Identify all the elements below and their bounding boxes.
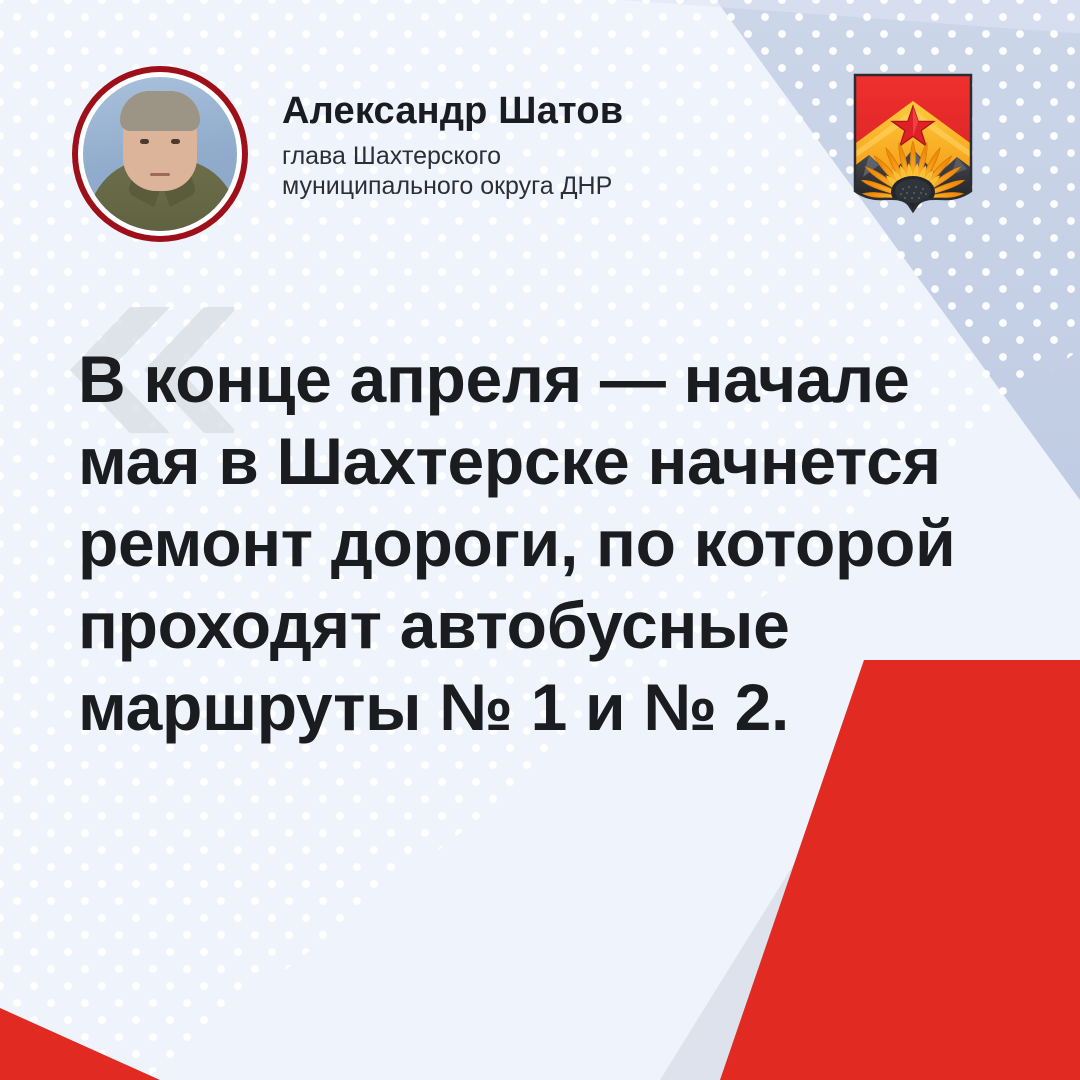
- avatar-ring-inner: [78, 72, 242, 236]
- avatar-ring: [72, 66, 248, 242]
- speaker-role: глава Шахтерского муниципального округа …: [282, 141, 623, 202]
- quote-card: Александр Шатов глава Шахтерского муници…: [0, 0, 1080, 1080]
- avatar: [83, 77, 237, 231]
- quote-text: В конце апреля — начале мая в Шахтерске …: [78, 338, 998, 748]
- portrait-eye-right: [171, 139, 180, 144]
- speaker-name: Александр Шатов: [282, 92, 623, 132]
- portrait-eye-left: [140, 139, 149, 144]
- portrait-mouth: [150, 173, 170, 176]
- portrait-hair: [120, 91, 200, 131]
- coat-of-arms-icon: [851, 73, 975, 235]
- speaker-header: Александр Шатов глава Шахтерского муници…: [72, 66, 623, 242]
- coat-of-arms-emblem: [851, 73, 975, 235]
- speaker-text-block: Александр Шатов глава Шахтерского муници…: [282, 66, 623, 202]
